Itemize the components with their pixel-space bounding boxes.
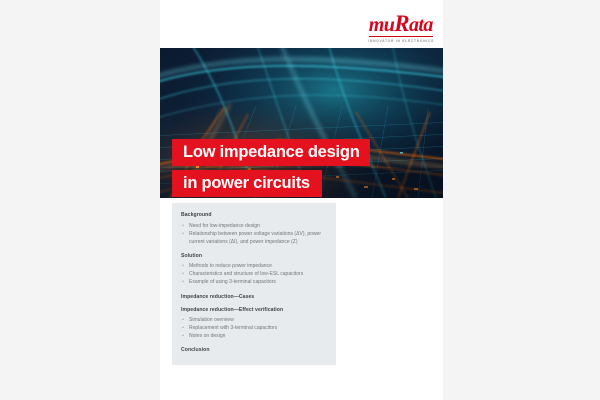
section-heading: Background (181, 212, 326, 218)
list-item: •Need for low-impedance design (181, 222, 326, 230)
list-item-label: Simulation overview (189, 317, 234, 323)
murata-logo: muRata INNOVATOR IN ELECTRONICS (369, 12, 433, 43)
list-item: •Methods to reduce power impedance (181, 262, 326, 270)
contents-panel: Background •Need for low-impedance desig… (172, 203, 336, 365)
bullet-icon: • (182, 324, 184, 332)
section-heading: Solution (181, 253, 326, 259)
list-item: •Replacement with 3-terminal capacitors (181, 324, 326, 332)
section-list: •Simulation overview •Replacement with 3… (181, 316, 326, 340)
list-item-label: Methods to reduce power impedance (189, 263, 272, 269)
page-header: muRata INNOVATOR IN ELECTRONICS (160, 0, 443, 48)
logo-tail: ata (409, 14, 433, 36)
bullet-icon: • (182, 278, 184, 286)
bullet-icon: • (182, 332, 184, 340)
logo-capital-r: R (394, 11, 409, 36)
contents-section-solution: Solution •Methods to reduce power impeda… (181, 253, 326, 287)
bullet-icon: • (182, 270, 184, 278)
section-heading: Impedance reduction—Effect verification (181, 307, 326, 313)
list-item-label: Characteristics and structure of low-ESL… (189, 271, 303, 277)
list-item: •Characteristics and structure of low-ES… (181, 270, 326, 278)
bullet-icon: • (182, 316, 184, 324)
list-item: •Relationship between power voltage vari… (181, 230, 326, 246)
title-line-2: in power circuits (172, 170, 322, 197)
list-item-label: Example of using 3-terminal capacitors (189, 279, 276, 285)
contents-section-cases: Impedance reduction—Cases (181, 294, 326, 300)
document-page: muRata INNOVATOR IN ELECTRONICS (160, 0, 443, 400)
contents-section-background: Background •Need for low-impedance desig… (181, 212, 326, 246)
contents-section-conclusion: Conclusion (181, 347, 326, 353)
screenshot-stage: muRata INNOVATOR IN ELECTRONICS (0, 0, 600, 400)
murata-tagline: INNOVATOR IN ELECTRONICS (368, 40, 434, 43)
list-item: •Example of using 3-terminal capacitors (181, 278, 326, 286)
section-heading: Conclusion (181, 347, 326, 353)
section-list: •Methods to reduce power impedance •Char… (181, 262, 326, 286)
list-item-label: Relationship between power voltage varia… (189, 231, 321, 245)
contents-section-effect-verification: Impedance reduction—Effect verification … (181, 307, 326, 341)
bullet-icon: • (182, 262, 184, 270)
murata-wordmark: muRata (369, 12, 433, 37)
list-item-label: Need for low-impedance design (189, 223, 260, 229)
list-item: •Notes on design (181, 332, 326, 340)
logo-lead: mu (369, 14, 394, 36)
section-list: •Need for low-impedance design •Relation… (181, 222, 326, 246)
section-heading: Impedance reduction—Cases (181, 294, 326, 300)
bullet-icon: • (182, 222, 184, 230)
list-item-label: Notes on design (189, 333, 225, 339)
list-item: •Simulation overview (181, 316, 326, 324)
bullet-icon: • (182, 230, 184, 238)
title-line-1: Low impedance design (172, 139, 370, 166)
list-item-label: Replacement with 3-terminal capacitors (189, 325, 277, 331)
